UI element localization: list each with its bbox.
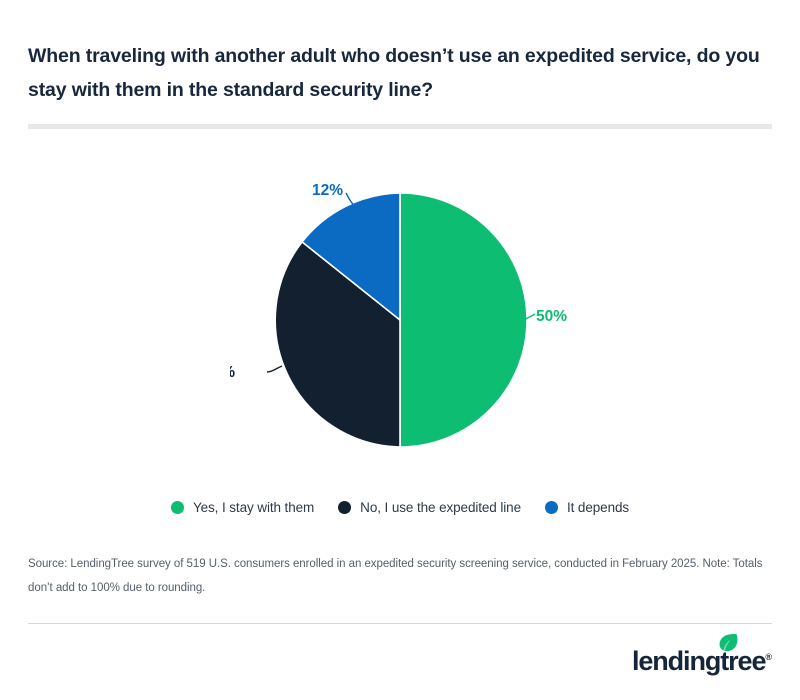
lendingtree-logo[interactable]: lendingtree® [632,639,772,675]
chart-legend: Yes, I stay with them No, I use the expe… [0,500,800,515]
source-note: Source: LendingTree survey of 519 U.S. c… [28,553,772,600]
pie-chart-area: 50% 39% 12% [0,140,800,490]
leaf-icon [717,633,739,653]
leader-line-no [267,366,282,372]
pie-label-it-depends: 12% [312,182,343,199]
logo-text: lendingtree [632,646,765,676]
legend-item-it-depends[interactable]: It depends [545,500,629,515]
page-title: When traveling with another adult who do… [28,40,768,107]
legend-swatch-blue [545,501,558,514]
title-divider [28,124,772,129]
logo-wordmark: lendingtree® [632,648,772,675]
legend-label-it-depends: It depends [567,500,629,515]
pie-label-yes: 50% [536,308,567,325]
legend-swatch-navy [338,501,351,514]
legend-swatch-green [171,501,184,514]
logo-registered-mark: ® [765,652,772,662]
pie-chart: 50% 39% 12% [230,145,610,475]
legend-label-no: No, I use the expedited line [360,500,521,515]
legend-item-yes[interactable]: Yes, I stay with them [171,500,314,515]
pie-label-no: 39% [230,364,235,381]
chart-page: When traveling with another adult who do… [0,0,800,700]
footer-divider [28,623,772,624]
pie-slice-yes[interactable] [400,193,527,447]
legend-item-no[interactable]: No, I use the expedited line [338,500,521,515]
legend-label-yes: Yes, I stay with them [193,500,314,515]
